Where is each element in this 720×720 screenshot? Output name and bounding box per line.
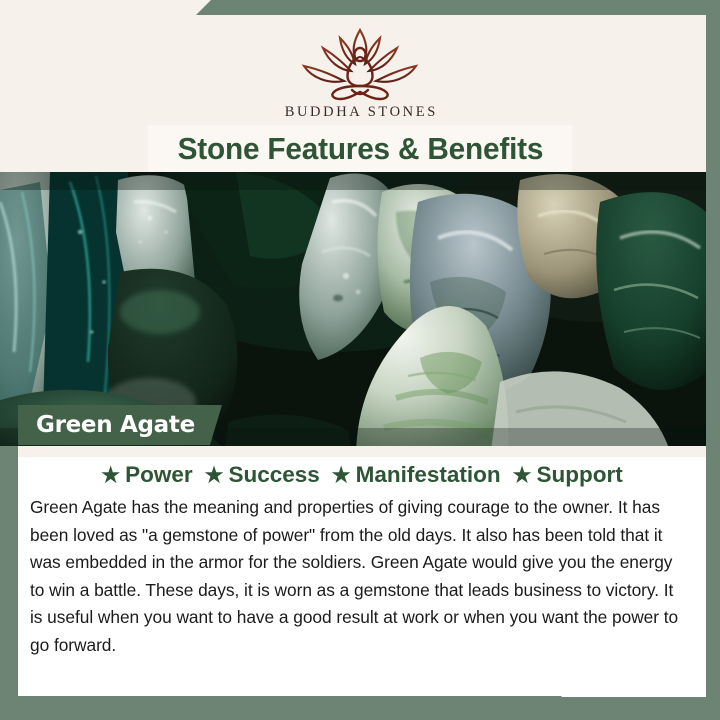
benefits-list: ★ Power ★ Success ★ Manifestation ★ Supp…	[18, 462, 706, 488]
content-card: ★ Power ★ Success ★ Manifestation ★ Supp…	[18, 446, 706, 697]
benefit-label: Power	[125, 462, 193, 488]
lotus-meditation-icon	[290, 26, 430, 102]
star-icon: ★	[332, 465, 351, 486]
benefit-label: Success	[228, 462, 319, 488]
star-icon: ★	[205, 465, 224, 486]
benefit-item-success: ★ Success	[205, 462, 320, 488]
benefit-label: Support	[536, 462, 622, 488]
page-title: Stone Features & Benefits	[177, 131, 543, 167]
benefit-item-power: ★ Power	[101, 462, 192, 488]
stone-name-banner: Green Agate	[18, 405, 222, 445]
brand-logo-block: BUDDHA STONES	[0, 26, 720, 121]
header-section: BUDDHA STONES Stone Features & Benefits	[0, 0, 720, 172]
star-icon: ★	[101, 465, 120, 486]
bottom-green-bar-decoration	[0, 696, 562, 720]
stone-photo	[0, 172, 706, 446]
star-icon: ★	[513, 465, 532, 486]
brand-name-text: BUDDHA STONES	[282, 104, 438, 121]
infographic-page: BUDDHA STONES Stone Features & Benefits	[0, 0, 720, 720]
stone-description-text: Green Agate has the meaning and properti…	[30, 494, 684, 659]
green-agate-stones-illustration	[0, 172, 706, 446]
benefit-item-manifestation: ★ Manifestation	[332, 462, 501, 488]
benefit-item-support: ★ Support	[513, 462, 623, 488]
stone-name-label: Green Agate	[18, 412, 195, 438]
title-plate: Stone Features & Benefits	[148, 125, 572, 172]
card-top-strip	[18, 446, 706, 457]
benefit-label: Manifestation	[356, 462, 501, 488]
top-green-wedge-decoration	[196, 0, 720, 15]
